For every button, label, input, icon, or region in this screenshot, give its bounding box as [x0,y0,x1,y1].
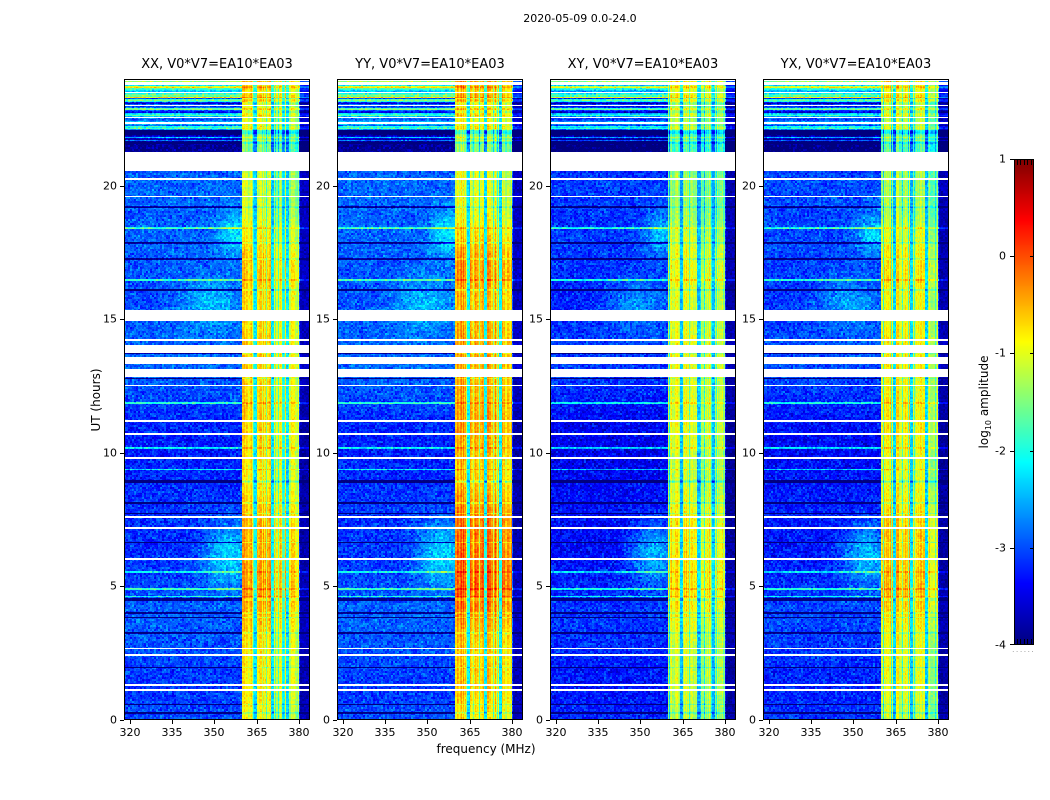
y-tick [333,319,337,320]
x-tick [343,720,344,724]
colorbar-tick-label: -4 [974,639,1006,652]
colorbar-minor-tick [1027,160,1028,165]
y-tick-label: 20 [86,180,117,193]
x-tick-label: 350 [630,726,651,739]
x-tick [853,720,854,724]
colorbar-minor-tick [1017,160,1018,165]
x-tick-label: 380 [715,726,736,739]
y-tick-label: 5 [86,580,117,593]
x-tick-label: 335 [588,726,609,739]
y-tick-label: 20 [725,180,756,193]
x-tick-label: 350 [843,726,864,739]
y-tick-label: 0 [299,714,330,727]
colorbar-minor-tick [1031,160,1032,165]
y-tick-label: 5 [725,580,756,593]
y-tick [546,453,550,454]
y-tick-label: 0 [86,714,117,727]
colorbar-minor-tick [1024,160,1025,165]
spectrogram-image-yx [763,79,949,720]
y-tick-label: 15 [725,313,756,326]
panel-yy: YY, V0*V7=EA10*EA03320335350365380051015… [337,79,523,720]
x-tick [640,720,641,724]
x-tick [769,720,770,724]
y-tick [759,319,763,320]
colorbar-tick [1010,353,1014,354]
y-tick-label: 5 [512,580,543,593]
y-tick-label: 10 [512,447,543,460]
x-tick [427,720,428,724]
colorbar-tick-inner [1030,256,1034,257]
x-tick-label: 320 [333,726,354,739]
x-tick [938,720,939,724]
x-tick-label: 365 [673,726,694,739]
x-axis-label: frequency (MHz) [436,742,535,756]
x-tick [257,720,258,724]
y-tick [546,319,550,320]
y-tick [333,186,337,187]
y-tick-label: 0 [512,714,543,727]
x-tick [385,720,386,724]
y-tick-label: 10 [299,447,330,460]
colorbar-label-suffix: amplitude [977,356,991,420]
colorbar-minor-tick [1024,639,1025,644]
x-tick-label: 335 [375,726,396,739]
y-tick-label: 20 [299,180,330,193]
y-tick [120,186,124,187]
spectrogram-image-xx [124,79,310,720]
y-tick [759,186,763,187]
colorbar-minor-tick [1031,639,1032,644]
colorbar-tick-label: 1 [974,153,1006,166]
colorbar-label-prefix: log [977,430,991,448]
y-tick [120,453,124,454]
panel-title-xy: XY, V0*V7=EA10*EA03 [568,57,719,72]
colorbar-frame [1014,159,1034,645]
x-tick-label: 365 [886,726,907,739]
x-tick [172,720,173,724]
colorbar-tick [1010,644,1014,645]
y-tick-label: 10 [725,447,756,460]
x-tick-label: 335 [162,726,183,739]
y-tick [120,319,124,320]
colorbar-minor-tick [1017,639,1018,644]
colorbar-tick-inner [1030,451,1034,452]
colorbar-tick [1010,256,1014,257]
x-tick [470,720,471,724]
x-tick [811,720,812,724]
y-tick-label: 15 [86,313,117,326]
y-tick [333,720,337,721]
x-tick-label: 320 [759,726,780,739]
colorbar-tick-label: 0 [974,250,1006,263]
spectrogram-image-yy [337,79,523,720]
colorbar-axis-dots: ...... [1012,647,1035,654]
x-tick [896,720,897,724]
x-tick [556,720,557,724]
y-tick-label: 15 [512,313,543,326]
panel-title-yy: YY, V0*V7=EA10*EA03 [355,57,505,72]
y-tick [546,186,550,187]
panel-xx: XX, V0*V7=EA10*EA03320335350365380051015… [124,79,310,720]
x-tick [683,720,684,724]
x-tick-label: 380 [289,726,310,739]
y-tick [120,720,124,721]
x-tick [130,720,131,724]
colorbar-tick [1010,159,1014,160]
figure: 2020-05-09 0.0-24.0 XX, V0*V7=EA10*EA033… [0,0,1050,800]
colorbar-minor-tick [1020,160,1021,165]
panel-title-xx: XX, V0*V7=EA10*EA03 [141,57,293,72]
spectrogram-image-xy [550,79,736,720]
y-tick [759,720,763,721]
colorbar-tick-inner [1030,644,1034,645]
panel-xy: XY, V0*V7=EA10*EA03320335350365380051015… [550,79,736,720]
x-tick-label: 335 [801,726,822,739]
colorbar-label-subscript: 10 [984,420,993,430]
colorbar-tick-inner [1030,548,1034,549]
y-tick [759,453,763,454]
y-tick [333,453,337,454]
y-tick [333,586,337,587]
x-tick-label: 365 [247,726,268,739]
y-tick-label: 20 [512,180,543,193]
figure-title: 2020-05-09 0.0-24.0 [523,12,636,25]
y-tick-label: 10 [86,447,117,460]
colorbar-tick [1010,548,1014,549]
colorbar-tick-label: -3 [974,542,1006,555]
x-tick-label: 380 [502,726,523,739]
x-tick [214,720,215,724]
x-tick-label: 320 [120,726,141,739]
y-tick [546,720,550,721]
y-tick-label: 5 [299,580,330,593]
x-tick [598,720,599,724]
colorbar-label: log10 amplitude [977,356,993,449]
x-tick-label: 365 [460,726,481,739]
y-tick-label: 15 [299,313,330,326]
panel-title-yx: YX, V0*V7=EA10*EA03 [781,57,932,72]
y-tick [759,586,763,587]
colorbar-tick-inner [1030,353,1034,354]
x-tick-label: 350 [417,726,438,739]
y-tick [546,586,550,587]
y-tick [120,586,124,587]
colorbar-minor-tick [1027,639,1028,644]
y-tick-label: 0 [725,714,756,727]
colorbar-minor-tick [1020,639,1021,644]
x-tick-label: 380 [928,726,949,739]
colorbar-tick [1010,451,1014,452]
colorbar: -4-3-2-101...... [1014,159,1034,645]
x-tick-label: 350 [204,726,225,739]
x-tick-label: 320 [546,726,567,739]
y-axis-label: UT (hours) [89,368,103,431]
panel-yx: YX, V0*V7=EA10*EA03320335350365380051015… [763,79,949,720]
